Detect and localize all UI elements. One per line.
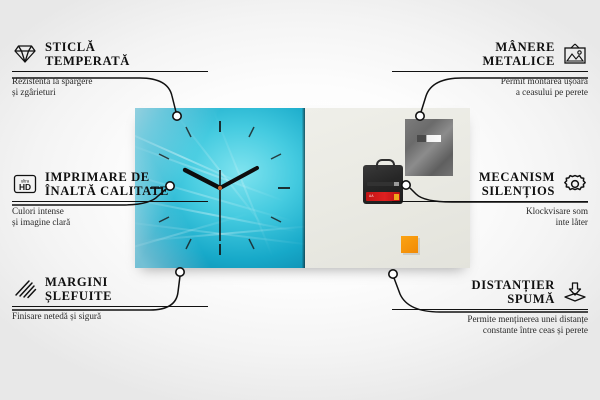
feature-subtitle: Rezistentă la spargere și zgârieturi (12, 76, 208, 98)
svg-text:HD: HD (19, 182, 31, 192)
feature-metal-handles: MÂNERE METALICE Permit montarea ușoară a… (392, 40, 588, 98)
feature-polished-edges: MARGINI ȘLEFUITE Finisare netedă și sigu… (12, 275, 208, 322)
feature-title: STICLĂ TEMPERATĂ (45, 40, 130, 68)
picture-frame-hanger-icon (562, 43, 588, 65)
feature-title: IMPRIMARE DE ÎNALTĂ CALITATE (45, 170, 169, 198)
feature-high-quality-print: ultra HD IMPRIMARE DE ÎNALTĂ CALITATE Cu… (12, 170, 208, 228)
divider (392, 309, 588, 310)
divider (392, 71, 588, 72)
feature-silent-mechanism: MECANISM SILENȚIOS Klockvisare som inte … (392, 170, 588, 228)
feature-foam-spacer: DISTANȚIER SPUMĂ Permite menținerea unei… (392, 278, 588, 336)
press-down-pad-icon (562, 281, 588, 303)
feature-title: MÂNERE METALICE (483, 40, 555, 68)
gear-icon (562, 173, 588, 195)
feature-title: MARGINI ȘLEFUITE (45, 275, 112, 303)
feature-subtitle: Klockvisare som inte låter (392, 206, 588, 228)
ultra-hd-badge-icon: ultra HD (12, 173, 38, 195)
feature-subtitle: Permite menținerea unei distanțe constan… (392, 314, 588, 336)
feature-subtitle: Permit montarea ușoară a ceasului pe per… (392, 76, 588, 98)
divider (392, 201, 588, 202)
divider (12, 201, 208, 202)
feature-subtitle: Culori intense și imagine clară (12, 206, 208, 228)
feature-subtitle: Finisare netedă și sigură (12, 311, 208, 322)
feature-title: MECANISM SILENȚIOS (479, 170, 555, 198)
divider (12, 306, 208, 307)
diamond-icon (12, 43, 38, 65)
feature-tempered-glass: STICLĂ TEMPERATĂ Rezistentă la spargere … (12, 40, 208, 98)
polished-edges-icon (12, 278, 38, 300)
infographic-canvas: AA (0, 0, 600, 400)
feature-title: DISTANȚIER SPUMĂ (472, 278, 555, 306)
divider (12, 71, 208, 72)
